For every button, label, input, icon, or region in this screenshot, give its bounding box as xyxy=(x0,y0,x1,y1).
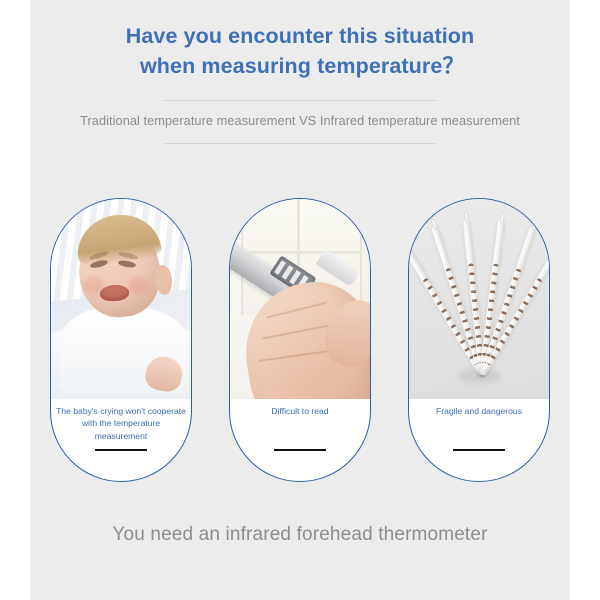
headline-line-1: Have you encounter this situation xyxy=(30,22,570,52)
card-caption: Fragile and dangerous xyxy=(409,399,549,481)
promo-page: Have you encounter this situation when m… xyxy=(0,0,600,600)
subtitle-band: Traditional temperature measurement VS I… xyxy=(30,100,570,144)
card-underline xyxy=(95,449,147,451)
card-underline xyxy=(453,449,505,451)
headline-line-2: when measuring temperature？ xyxy=(30,52,570,82)
problem-card-crying-baby[interactable]: The baby's crying won't cooperate with t… xyxy=(50,198,192,482)
glass-thermometers-photo xyxy=(409,199,549,399)
card-underline xyxy=(274,449,326,451)
card-caption-line-1: Difficult to read xyxy=(271,406,328,416)
card-caption-line-1: The baby's crying won't cooperate xyxy=(56,406,186,416)
problem-card-difficult-to-read[interactable]: Difficult to read xyxy=(229,198,371,482)
footer-note: You need an infrared forehead thermomete… xyxy=(30,524,570,546)
thermometer-top-shape xyxy=(530,219,537,231)
card-caption-line-1: Fragile and dangerous xyxy=(436,406,522,416)
baby-cheek-right xyxy=(128,277,149,295)
fan-shadow xyxy=(457,369,502,383)
card-caption: The baby's crying won't cooperate with t… xyxy=(51,399,191,481)
thermometer-top-shape xyxy=(499,212,504,223)
page-title: Have you encounter this situation when m… xyxy=(30,22,570,81)
subtitle-text: Traditional temperature measurement VS I… xyxy=(30,101,570,143)
problem-card-fragile-dangerous[interactable]: Fragile and dangerous xyxy=(408,198,550,482)
card-caption: Difficult to read xyxy=(230,399,370,481)
content-panel: Have you encounter this situation when m… xyxy=(30,0,570,600)
problem-cards-row: The baby's crying won't cooperate with t… xyxy=(30,198,570,482)
thermometer-top-shape xyxy=(463,212,468,223)
divider-bottom xyxy=(164,143,436,144)
card-caption-line-2: with the temperature measurement xyxy=(82,418,160,440)
thermometer-top-shape xyxy=(430,218,437,230)
digital-thermometer-photo xyxy=(230,199,370,399)
crying-baby-photo xyxy=(51,199,191,399)
